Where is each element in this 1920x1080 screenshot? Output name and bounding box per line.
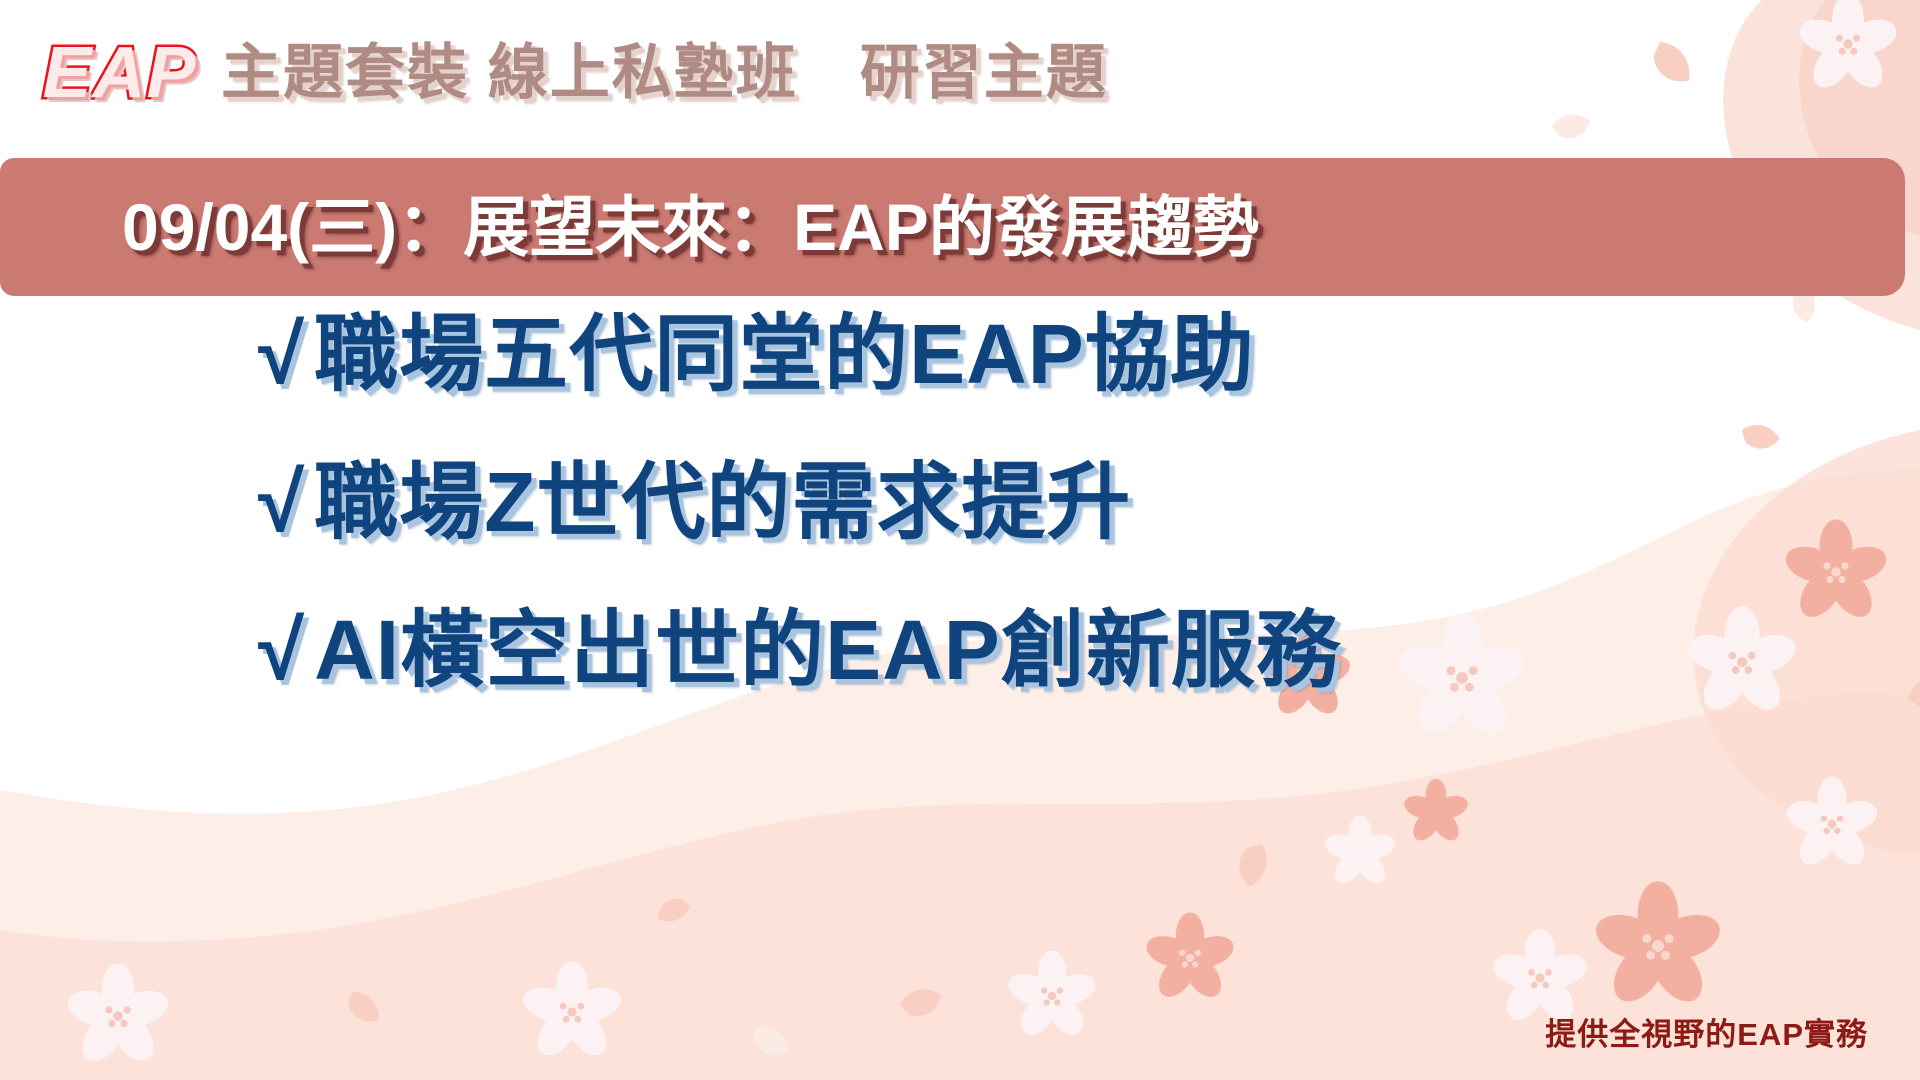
list-item-label: 職場Z世代的需求提升 bbox=[314, 460, 1131, 544]
session-banner: 09/04(三)：展望未來：EAP的發展趨勢 bbox=[0, 158, 1905, 296]
list-item: √ 職場五代同堂的EAP協助 bbox=[258, 312, 1818, 460]
list-item: √ 職場Z世代的需求提升 bbox=[258, 460, 1818, 608]
list-item: √ AI橫空出世的EAP創新服務 bbox=[258, 608, 1818, 756]
session-banner-title: 09/04(三)：展望未來：EAP的發展趨勢 bbox=[122, 194, 1259, 260]
list-item-label: 職場五代同堂的EAP協助 bbox=[314, 312, 1255, 396]
eap-logo: EAP bbox=[42, 37, 196, 109]
slide-header: EAP 主題套裝 線上私塾班 研習主題 bbox=[0, 18, 1920, 128]
checkmark-icon: √ bbox=[258, 608, 304, 692]
topic-list: √ 職場五代同堂的EAP協助 √ 職場Z世代的需求提升 √ AI橫空出世的EAP… bbox=[258, 312, 1818, 756]
page-title: 主題套裝 線上私塾班 研習主題 bbox=[221, 43, 1108, 103]
slide-canvas: EAP 主題套裝 線上私塾班 研習主題 09/04(三)：展望未來：EAP的發展… bbox=[0, 0, 1920, 1080]
checkmark-icon: √ bbox=[258, 460, 304, 544]
list-item-label: AI橫空出世的EAP創新服務 bbox=[314, 608, 1341, 692]
footer-tagline: 提供全視野的EAP實務 bbox=[1545, 1019, 1868, 1050]
checkmark-icon: √ bbox=[258, 312, 304, 396]
